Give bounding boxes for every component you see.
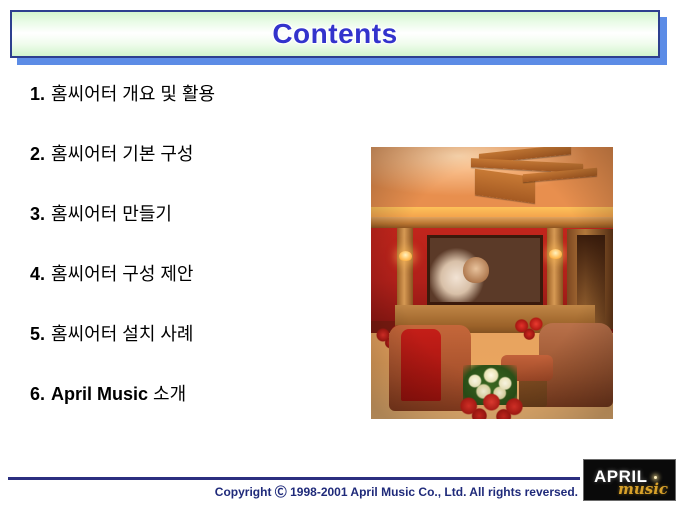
list-item-number: 1. (30, 84, 45, 104)
title-banner: Contents (10, 10, 660, 58)
title-banner-container: Contents (10, 10, 660, 58)
logo-secondary-text: music (618, 480, 668, 498)
list-item-number: 4. (30, 264, 45, 284)
home-theater-photo (371, 147, 613, 419)
list-item-label: 홈씨어터 개요 및 활용 (51, 84, 215, 104)
list-item[interactable]: 5.홈씨어터 설치 사례 (30, 322, 360, 382)
list-item-number: 2. (30, 144, 45, 164)
list-item-label: 홈씨어터 만들기 (51, 204, 172, 224)
list-item[interactable]: 3.홈씨어터 만들기 (30, 202, 360, 262)
list-item-number: 3. (30, 204, 45, 224)
page-title: Contents (272, 18, 397, 50)
list-item[interactable]: 2.홈씨어터 기본 구성 (30, 142, 360, 202)
april-music-logo[interactable]: APRIL music (583, 459, 676, 501)
sparkle-icon (654, 476, 657, 479)
list-item-label: 홈씨어터 기본 구성 (51, 144, 193, 164)
list-item-label: 홈씨어터 설치 사례 (51, 324, 193, 344)
list-item-number: 6. (30, 384, 45, 404)
list-item-suffix: 소개 (148, 384, 186, 404)
footer-divider (8, 477, 580, 480)
contents-list: 1.홈씨어터 개요 및 활용 2.홈씨어터 기본 구성 3.홈씨어터 만들기 4… (30, 82, 360, 442)
list-item-label: April Music (51, 384, 148, 404)
list-item-label: 홈씨어터 구성 제안 (51, 264, 193, 284)
photo-vignette (371, 147, 613, 419)
list-item-number: 5. (30, 324, 45, 344)
list-item[interactable]: 6.April Music 소개 (30, 382, 360, 442)
copyright-notice: Copyright Ⓒ 1998-2001 April Music Co., L… (0, 483, 578, 500)
list-item[interactable]: 4.홈씨어터 구성 제안 (30, 262, 360, 322)
list-item[interactable]: 1.홈씨어터 개요 및 활용 (30, 82, 360, 142)
